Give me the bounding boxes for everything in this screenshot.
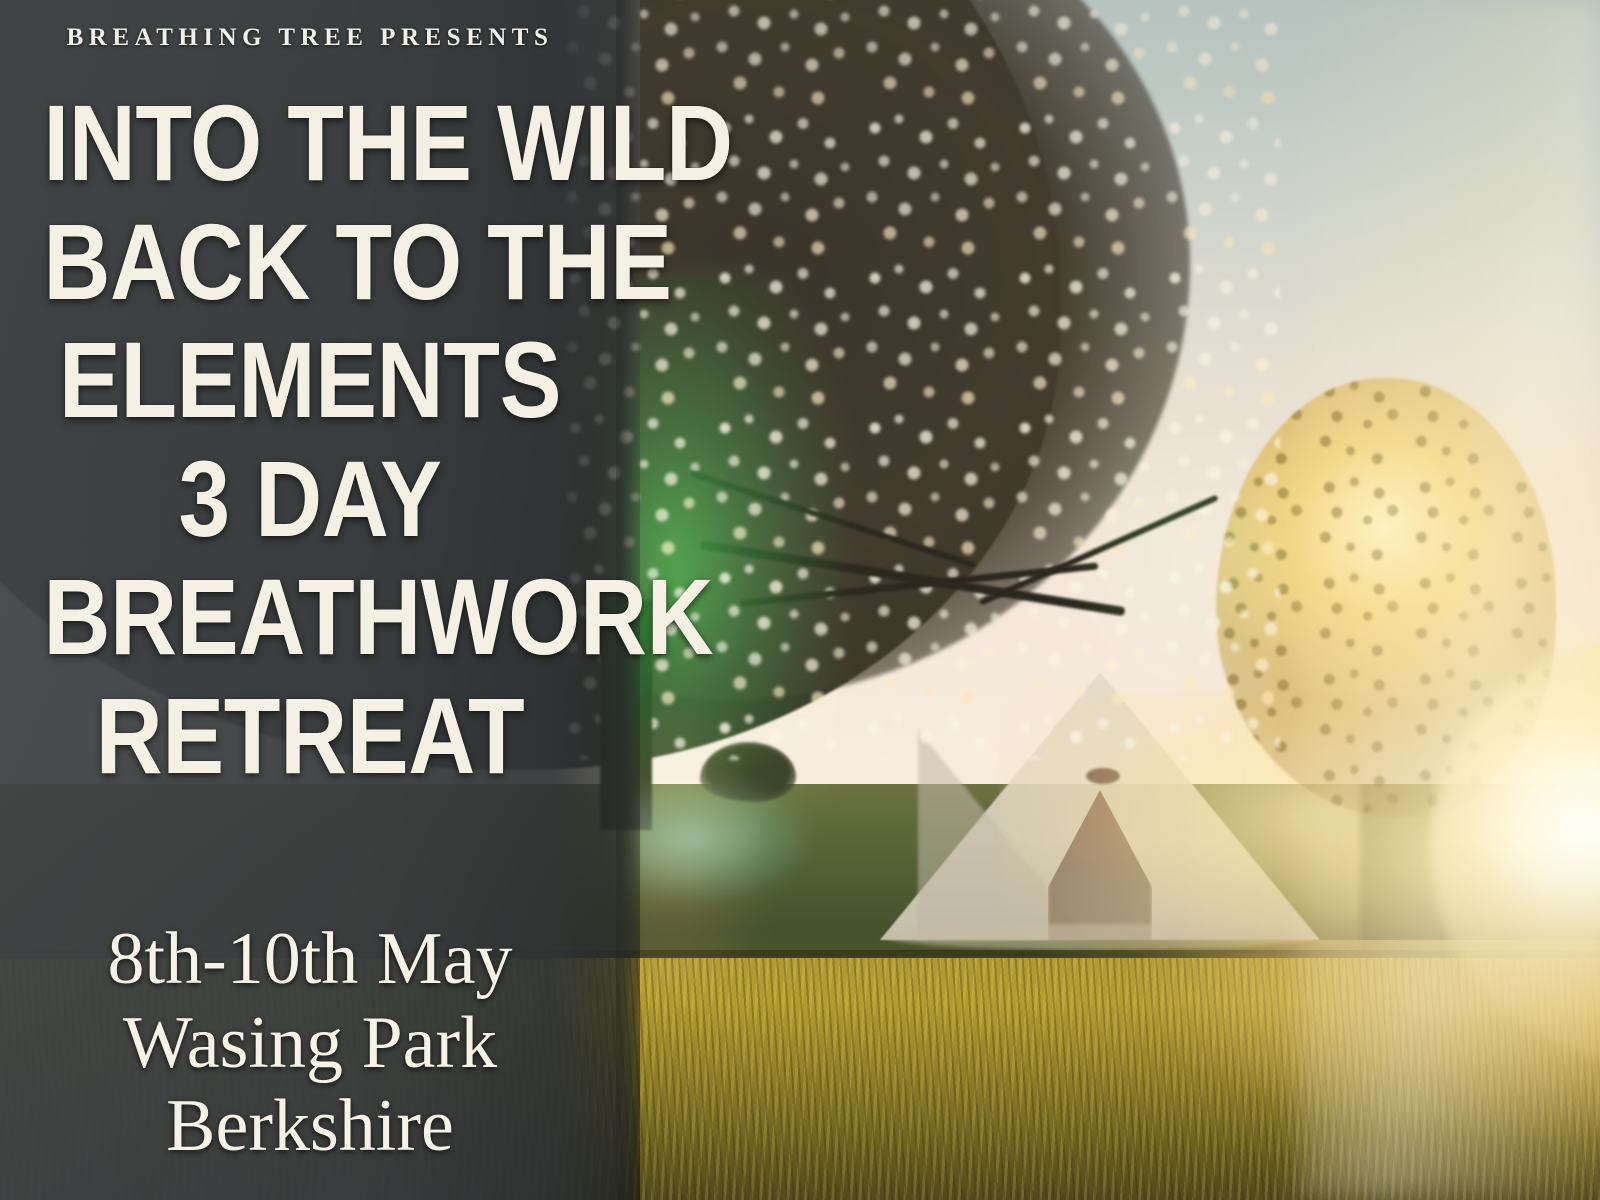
headline-line-2: BACK TO THE xyxy=(43,211,576,314)
presenter-kicker: BREATHING TREE PRESENTS xyxy=(0,24,620,52)
event-region: Berkshire xyxy=(0,1085,620,1169)
poster-text-content: BREATHING TREE PRESENTS INTO THE WILD BA… xyxy=(0,0,620,1200)
headline-line-6: RETREAT xyxy=(43,685,576,788)
headline-line-4: 3 DAY xyxy=(43,448,576,551)
headline-line-5: BREATHWORK xyxy=(43,566,576,669)
event-venue: Wasing Park xyxy=(0,1002,620,1086)
event-dates: 8th-10th May xyxy=(0,918,620,1002)
headline-line-3: ELEMENTS xyxy=(43,329,576,432)
event-details-block: 8th-10th May Wasing Park Berkshire xyxy=(0,918,620,1169)
headline-block: INTO THE WILD BACK TO THE ELEMENTS 3 DAY… xyxy=(0,92,620,804)
event-poster: BREATHING TREE PRESENTS INTO THE WILD BA… xyxy=(0,0,1600,1200)
headline-line-1: INTO THE WILD xyxy=(43,92,576,195)
